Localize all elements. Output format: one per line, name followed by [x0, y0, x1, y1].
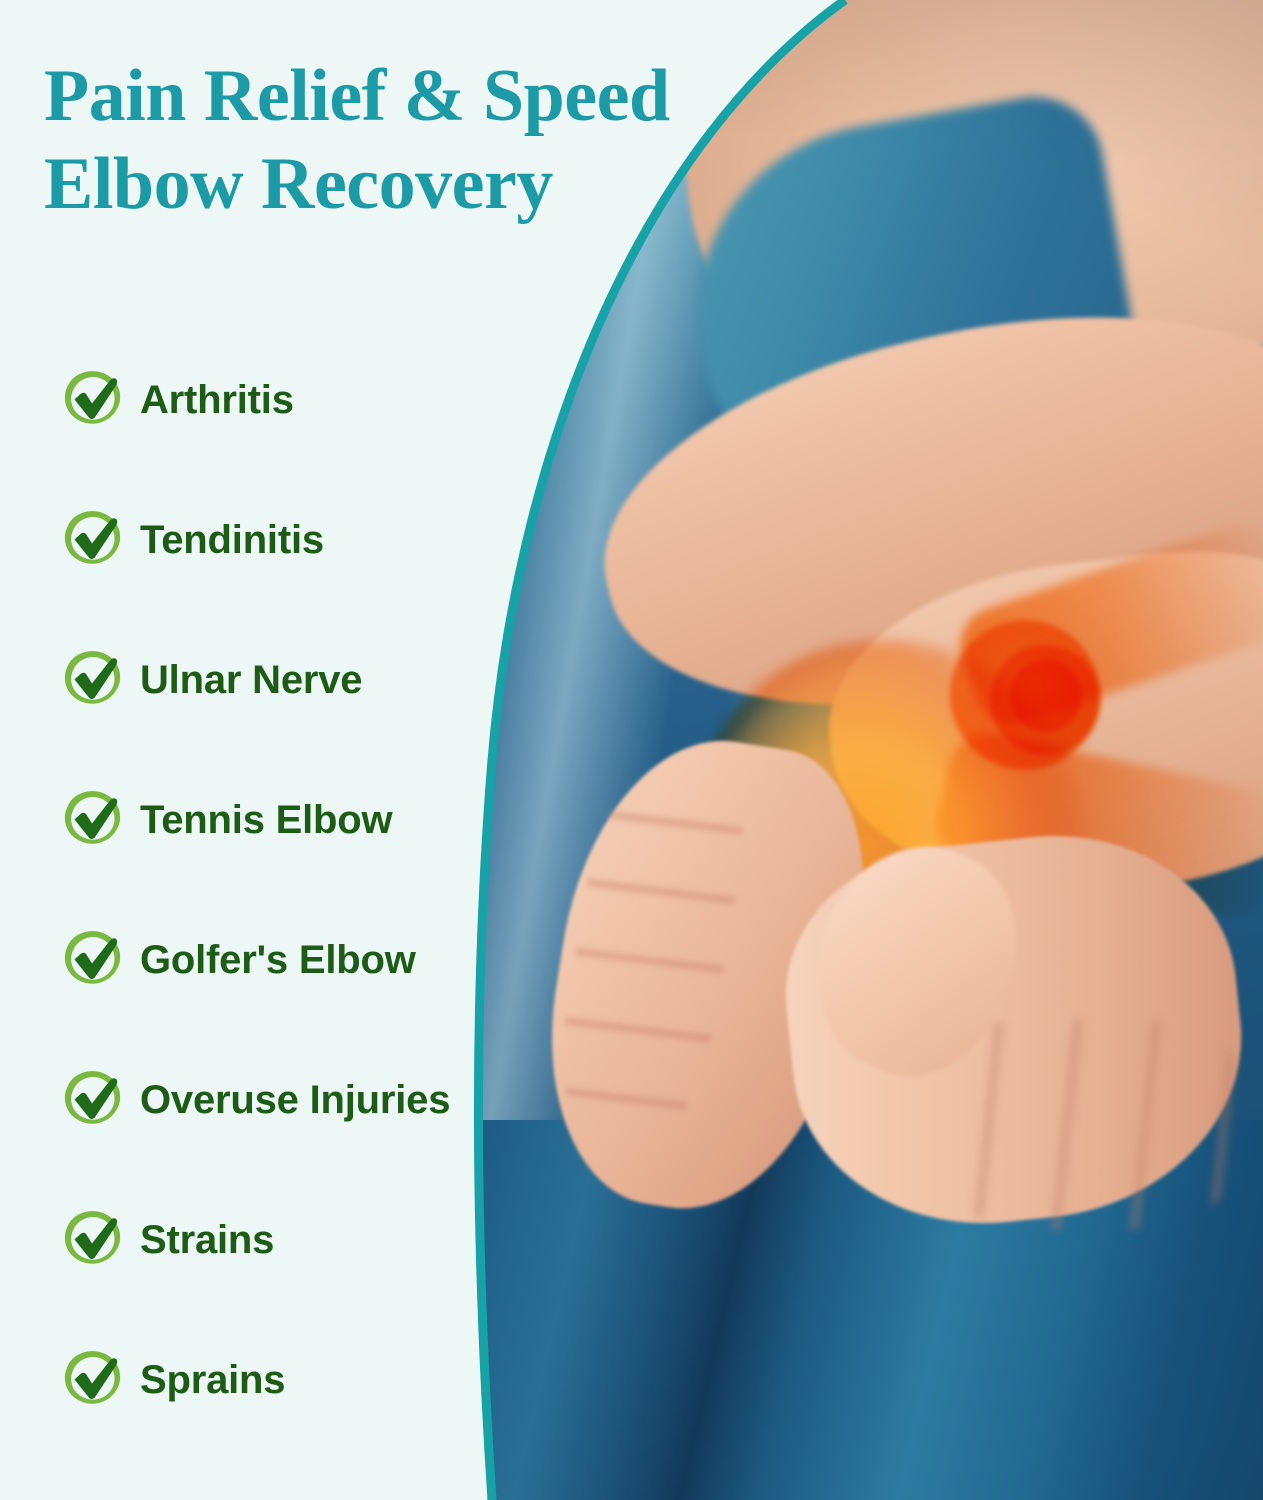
list-item: Sprains — [0, 1310, 520, 1450]
list-item-label: Ulnar Nerve — [140, 658, 362, 702]
green-check-icon — [58, 366, 126, 434]
left-text-panel: Pain Relief & Speed Elbow Recovery Arthr… — [0, 0, 800, 1500]
benefits-list: Arthritis Tendinitis U — [0, 330, 520, 1450]
list-item: Overuse Injuries — [0, 1030, 520, 1170]
list-item-label: Tennis Elbow — [140, 798, 392, 842]
green-check-icon — [58, 1206, 126, 1274]
green-check-icon — [58, 1346, 126, 1414]
list-item-label: Overuse Injuries — [140, 1078, 450, 1122]
page-title: Pain Relief & Speed Elbow Recovery — [44, 52, 774, 228]
list-item-label: Golfer's Elbow — [140, 938, 416, 982]
page-title-line-1: Pain Relief & Speed — [44, 52, 774, 140]
list-item-label: Strains — [140, 1218, 274, 1262]
list-item: Strains — [0, 1170, 520, 1310]
green-check-icon — [58, 1066, 126, 1134]
list-item: Arthritis — [0, 330, 520, 470]
list-item-label: Sprains — [140, 1358, 285, 1402]
list-item: Ulnar Nerve — [0, 610, 520, 750]
green-check-icon — [58, 646, 126, 714]
product-infographic: Pain Relief & Speed Elbow Recovery Arthr… — [0, 0, 1263, 1500]
page-title-line-2: Elbow Recovery — [44, 140, 774, 228]
list-item: Golfer's Elbow — [0, 890, 520, 1030]
list-item-label: Tendinitis — [140, 518, 324, 562]
green-check-icon — [58, 506, 126, 574]
green-check-icon — [58, 786, 126, 854]
list-item-label: Arthritis — [140, 378, 294, 422]
list-item: Tennis Elbow — [0, 750, 520, 890]
list-item: Tendinitis — [0, 470, 520, 610]
green-check-icon — [58, 926, 126, 994]
